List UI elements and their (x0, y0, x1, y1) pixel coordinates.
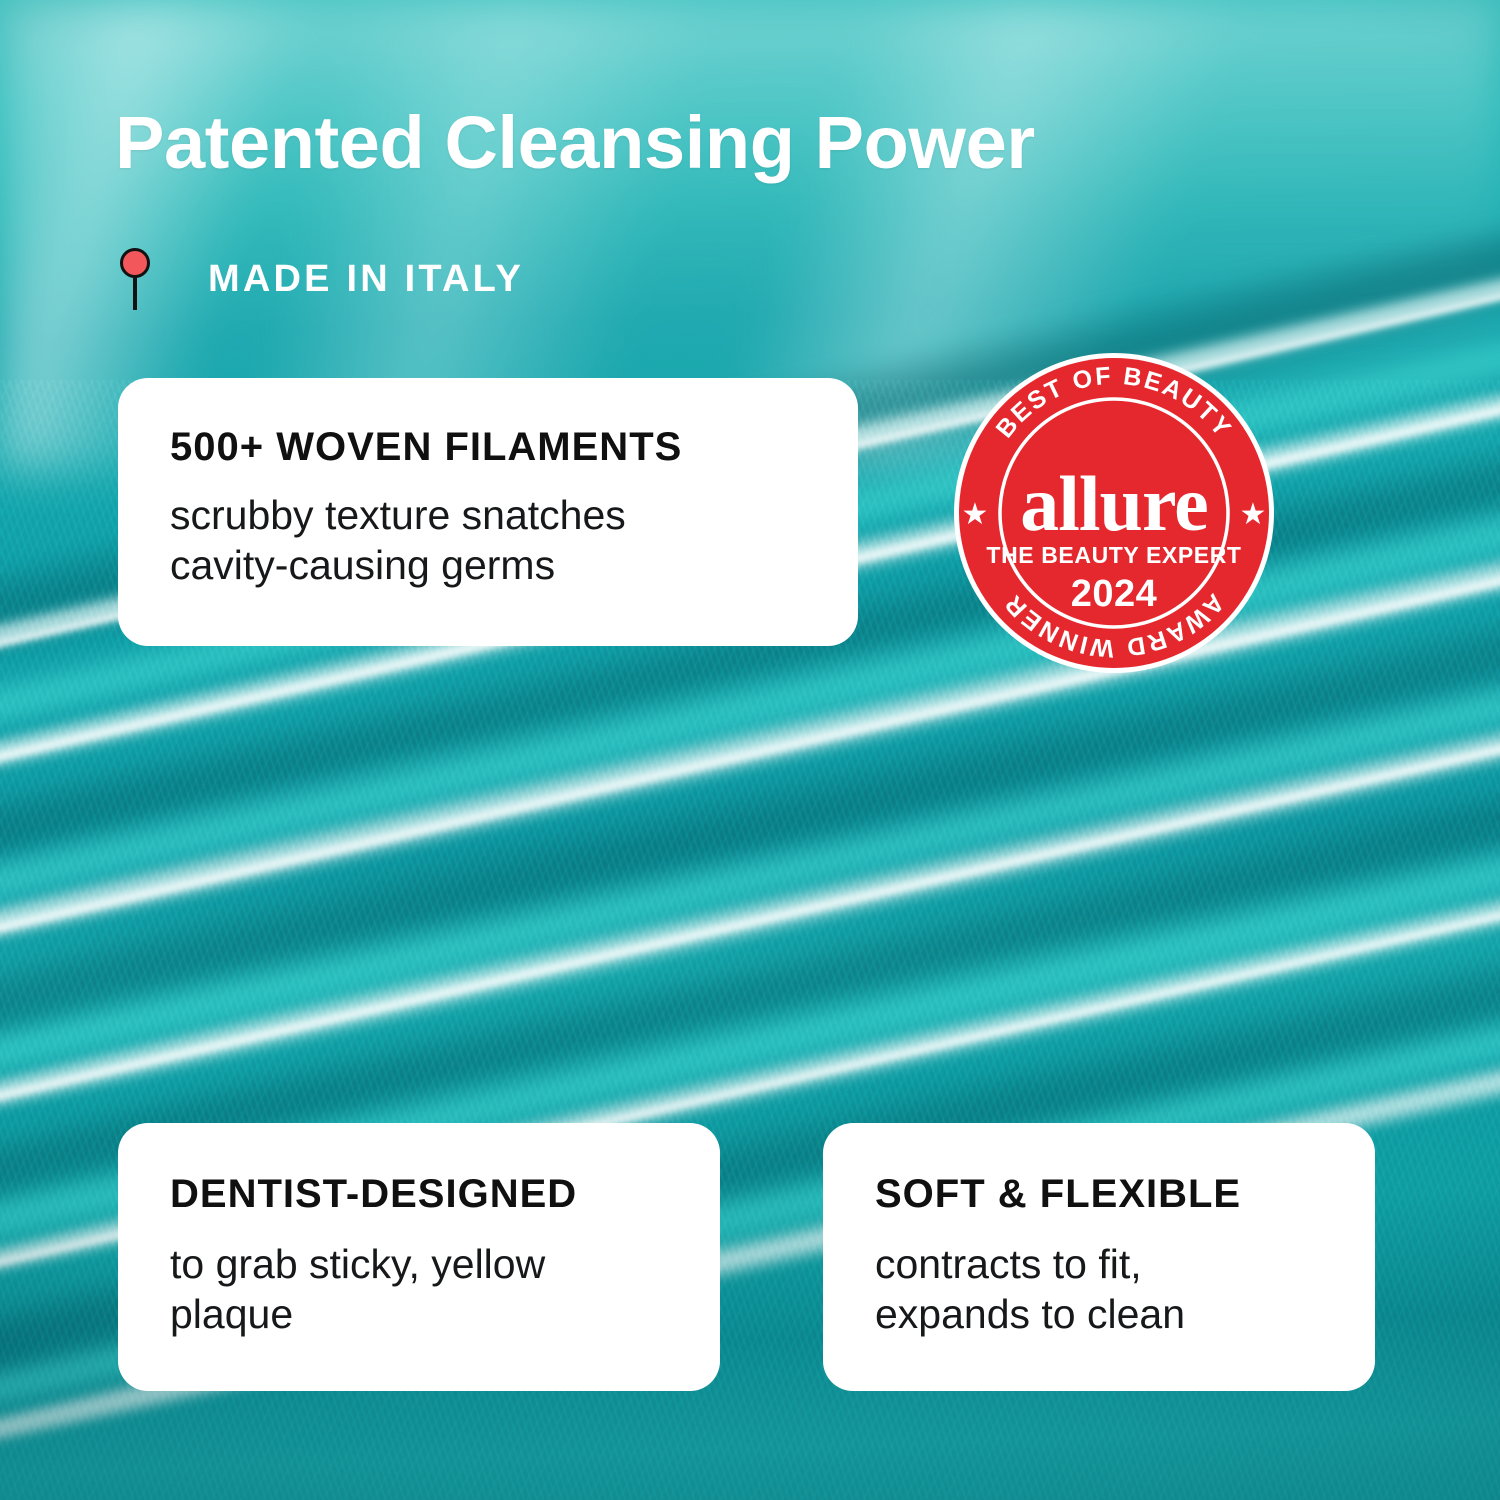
badge-tagline: THE BEAUTY EXPERT (986, 542, 1241, 568)
feature-card-body-line: scrubby texture snatches (170, 490, 858, 540)
badge-year: 2024 (1071, 573, 1158, 615)
badge-star-left-icon: ★ (962, 498, 989, 531)
made-in-italy-label: MADE IN ITALY (208, 258, 524, 301)
product-feature-graphic: Patented Cleansing Power MADE IN ITALY 5… (0, 0, 1500, 1500)
feature-card-filaments: 500+ WOVEN FILAMENTS scrubby texture sna… (118, 378, 858, 646)
feature-card-body: scrubby texture snatches cavity-causing … (170, 490, 858, 590)
feature-card-body-line: contracts to fit, (875, 1239, 1375, 1289)
map-pin-head (120, 248, 150, 278)
badge-star-right-icon: ★ (1240, 498, 1267, 531)
made-in-italy-row: MADE IN ITALY (116, 248, 524, 310)
feature-card-soft-flexible: SOFT & FLEXIBLE contracts to fit, expand… (823, 1123, 1375, 1391)
feature-card-body-line: expands to clean (875, 1289, 1375, 1339)
feature-card-heading: SOFT & FLEXIBLE (875, 1173, 1375, 1215)
map-pin-icon (116, 248, 154, 310)
badge-allure-wordmark: allure (1020, 460, 1208, 547)
feature-card-dentist-designed: DENTIST-DESIGNED to grab sticky, yellow … (118, 1123, 720, 1391)
allure-award-badge: BEST OF BEAUTY AWARD WINNER ★ ★ allure T… (953, 352, 1275, 674)
feature-card-heading: 500+ WOVEN FILAMENTS (170, 426, 858, 468)
feature-card-body-line: plaque (170, 1289, 720, 1339)
feature-card-body-line: cavity-causing germs (170, 540, 858, 590)
map-pin-stem (133, 275, 137, 310)
feature-card-body-line: to grab sticky, yellow (170, 1239, 720, 1289)
feature-card-body: contracts to fit, expands to clean (875, 1239, 1375, 1339)
feature-card-heading: DENTIST-DESIGNED (170, 1173, 720, 1215)
page-title: Patented Cleansing Power (115, 106, 1035, 180)
feature-card-body: to grab sticky, yellow plaque (170, 1239, 720, 1339)
